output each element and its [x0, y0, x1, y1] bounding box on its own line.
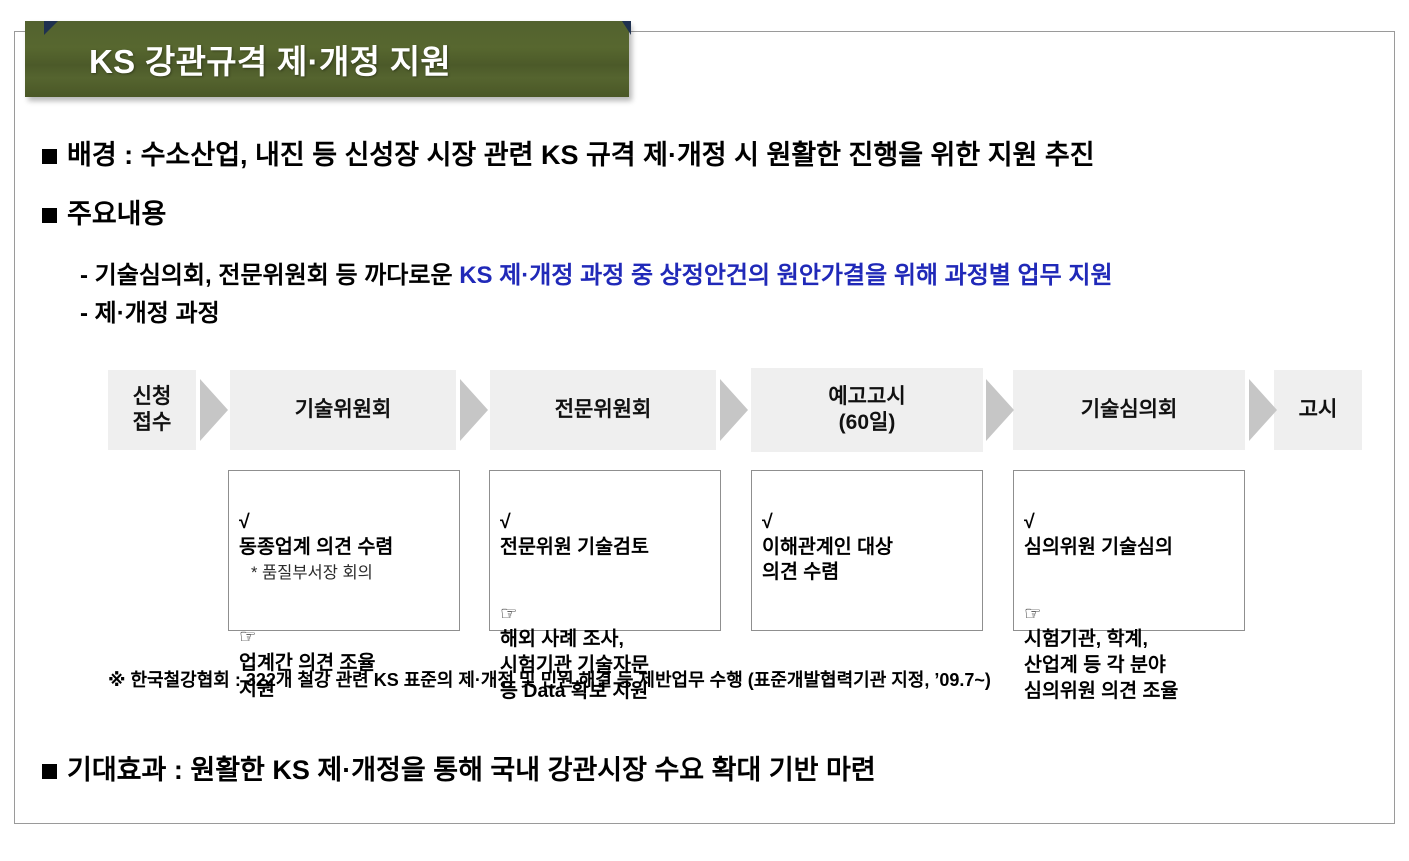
background-bullet-row: 배경 : 수소산업, 내진 등 신성장 시장 관련 KS 규격 제·개정 시 원… [42, 133, 1095, 172]
pointing-hand-icon: ☞ [239, 626, 256, 648]
detail-box-2-head: √ 전문위원 기술검토 [500, 485, 710, 560]
sub-item-1-highlight: KS 제·개정 과정 중 상정안건의 원안가결을 위해 과정별 업무 지원 [459, 262, 1112, 289]
flow-step-6-label: 고시 [1299, 397, 1338, 423]
flow-step-2[interactable]: 기술위원회 [230, 370, 456, 450]
detail-box-3-head-text: 이해관계인 대상 의견 수렴 [762, 536, 893, 583]
check-icon: √ [762, 511, 773, 533]
detail-box-4: √ 심의위원 기술심의 ☞ 시험기관, 학계, 산업계 등 각 분야 심의위원 … [1013, 470, 1245, 631]
detail-box-4-body-text: 시험기관, 학계, 산업계 등 각 분야 심의위원 의견 조율 [1024, 628, 1178, 701]
banner-fold-left-icon [44, 21, 58, 35]
flow-arrow-4-right-chevron-icon [986, 379, 1014, 441]
check-icon: √ [1024, 511, 1035, 533]
flow-step-1-label: 신청 접수 [133, 384, 172, 435]
check-icon: √ [239, 511, 250, 533]
effect-bullet-text: 기대효과 : 원활한 KS 제·개정을 통해 국내 강관시장 수요 확대 기반 … [67, 748, 876, 787]
flow-step-5-label: 기술심의회 [1081, 397, 1178, 423]
flow-arrow-2-right-chevron-icon [460, 379, 488, 441]
flow-step-3[interactable]: 전문위원회 [490, 370, 716, 450]
slide-canvas: KS 강관규격 제·개정 지원 배경 : 수소산업, 내진 등 신성장 시장 관… [0, 0, 1409, 861]
title-banner: KS 강관규격 제·개정 지원 [25, 21, 629, 97]
detail-box-1-head-text: 동종업계 의견 수렴 [239, 536, 393, 558]
square-bullet-icon [42, 149, 57, 164]
detail-box-2-head-text: 전문위원 기술검토 [500, 536, 649, 558]
sub-item-2: - 제·개정 과정 [80, 293, 220, 328]
flow-step-6[interactable]: 고시 [1274, 370, 1362, 450]
sub-item-2-prefix: - 제·개정 과정 [80, 300, 220, 327]
page-title: KS 강관규격 제·개정 지원 [89, 35, 451, 83]
detail-box-1: √ 동종업계 의견 수렴 * 품질부서장 회의 ☞ 업계간 의견 조율 지원 [228, 470, 460, 631]
banner-fold-right-icon [622, 21, 631, 35]
square-bullet-icon [42, 764, 57, 779]
detail-box-1-note: * 품질부서장 회의 [239, 563, 449, 584]
flow-arrow-3-right-chevron-icon [720, 379, 748, 441]
main-bullet-text: 주요내용 [67, 192, 166, 231]
detail-box-3: √ 이해관계인 대상 의견 수렴 [751, 470, 983, 631]
flow-arrow-1-right-chevron-icon [200, 379, 228, 441]
effect-bullet-row: 기대효과 : 원활한 KS 제·개정을 통해 국내 강관시장 수요 확대 기반 … [42, 748, 876, 787]
detail-box-2-body-text: 해외 사례 조사, 시험기관 기술자문 등 Data 확보 지원 [500, 628, 649, 701]
detail-box-1-body: ☞ 업계간 의견 조율 지원 [239, 599, 449, 702]
detail-box-2-body: ☞ 해외 사례 조사, 시험기관 기술자문 등 Data 확보 지원 [500, 576, 710, 705]
flow-arrow-5-right-chevron-icon [1249, 379, 1277, 441]
pointing-hand-icon: ☞ [1024, 603, 1041, 625]
sub-item-1-prefix: - 기술심의회, 전문위원회 등 까다로운 [80, 262, 459, 289]
check-icon: √ [500, 511, 511, 533]
main-bullet-row: 주요내용 [42, 192, 166, 231]
flow-step-5[interactable]: 기술심의회 [1013, 370, 1245, 450]
detail-box-1-body-text: 업계간 의견 조율 지원 [239, 652, 375, 700]
flow-step-4[interactable]: 예고고시 (60일) [751, 368, 983, 452]
detail-box-4-body: ☞ 시험기관, 학계, 산업계 등 각 분야 심의위원 의견 조율 [1024, 576, 1234, 705]
flow-step-4-label: 예고고시 (60일) [828, 384, 905, 435]
sub-item-1: - 기술심의회, 전문위원회 등 까다로운 KS 제·개정 과정 중 상정안건의… [80, 255, 1113, 290]
flow-step-1[interactable]: 신청 접수 [108, 370, 196, 450]
detail-box-2: √ 전문위원 기술검토 ☞ 해외 사례 조사, 시험기관 기술자문 등 Data… [489, 470, 721, 631]
square-bullet-icon [42, 208, 57, 223]
detail-box-4-head-text: 심의위원 기술심의 [1024, 536, 1173, 558]
pointing-hand-icon: ☞ [500, 603, 517, 625]
detail-box-1-head: √ 동종업계 의견 수렴 [239, 485, 449, 560]
detail-box-3-head: √ 이해관계인 대상 의견 수렴 [762, 485, 972, 585]
background-bullet-text: 배경 : 수소산업, 내진 등 신성장 시장 관련 KS 규격 제·개정 시 원… [67, 133, 1095, 172]
flow-step-2-label: 기술위원회 [295, 397, 392, 423]
flow-step-3-label: 전문위원회 [555, 397, 652, 423]
detail-box-4-head: √ 심의위원 기술심의 [1024, 485, 1234, 560]
